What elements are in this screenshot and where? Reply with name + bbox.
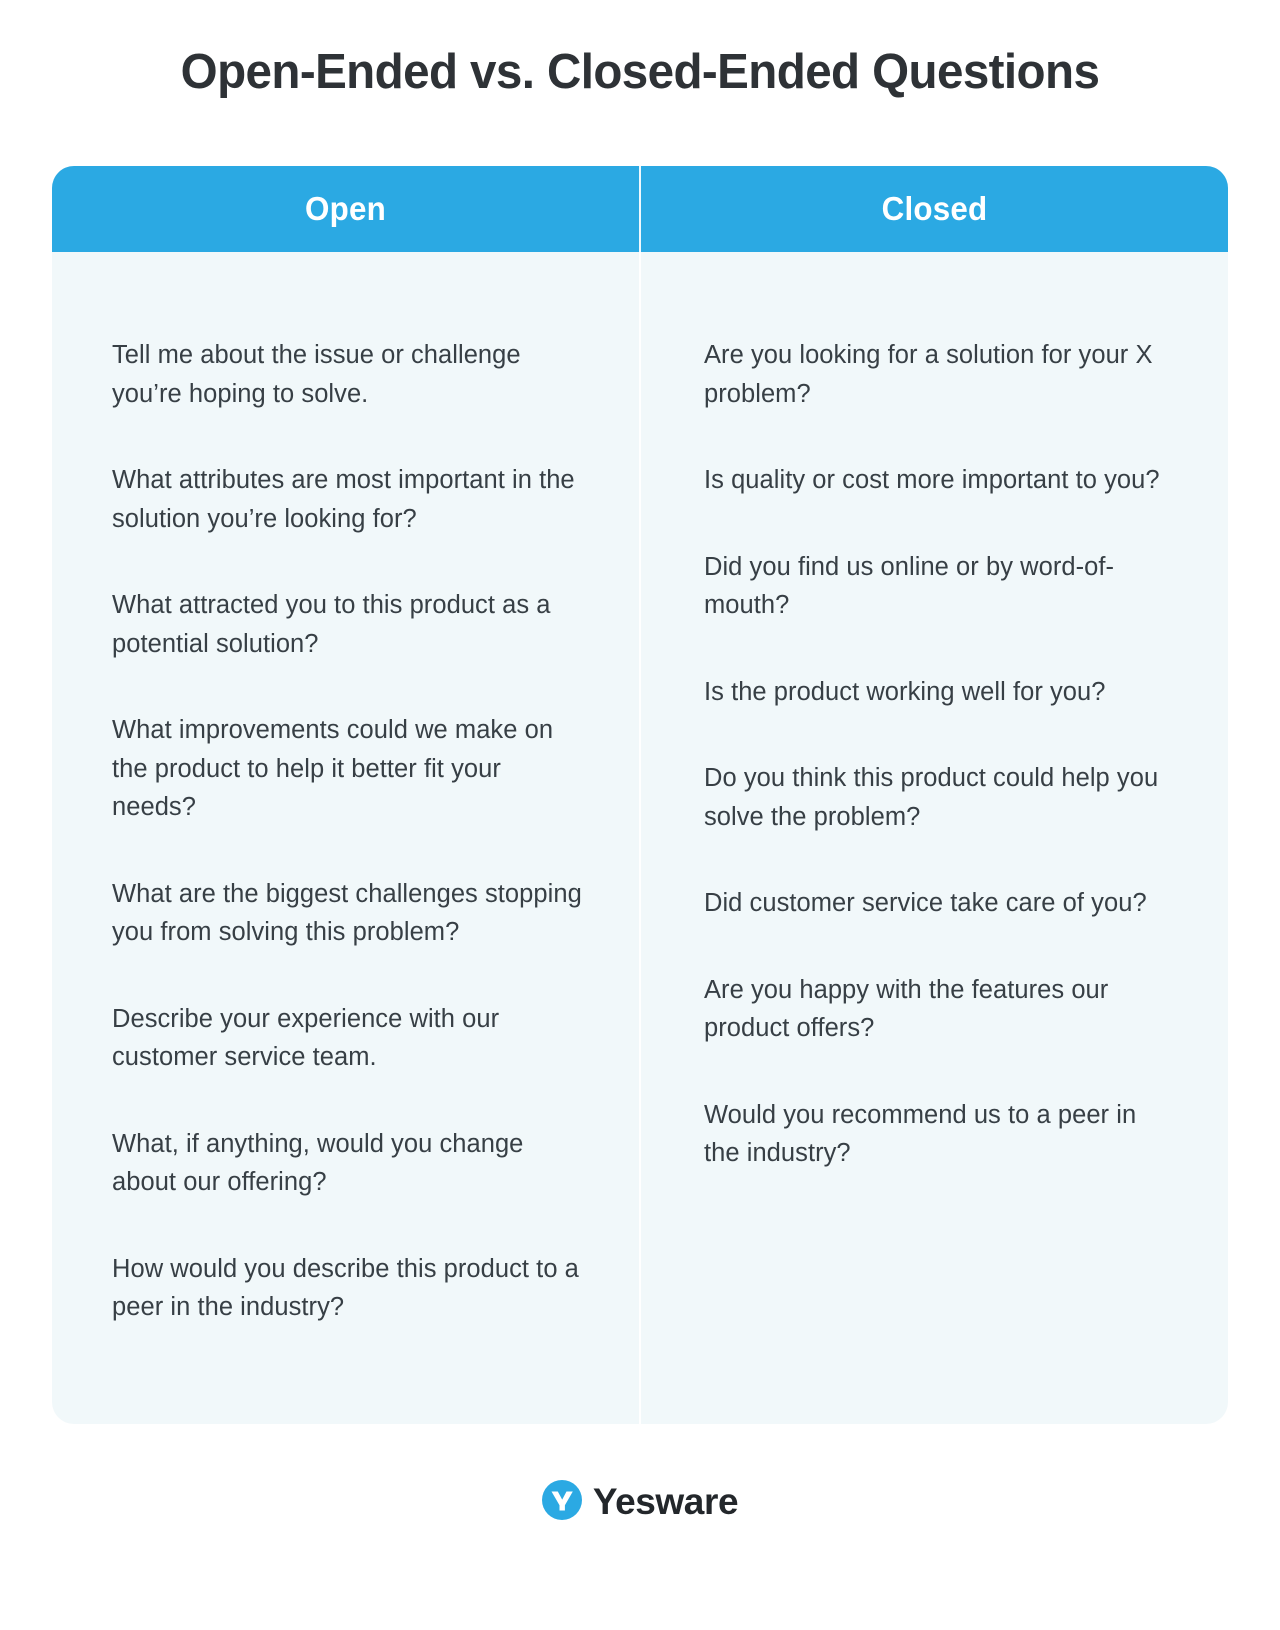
- list-item: Would you recommend us to a peer in the …: [704, 1096, 1174, 1173]
- list-item: Are you looking for a solution for your …: [704, 336, 1174, 413]
- list-item: How would you describe this product to a…: [112, 1250, 582, 1327]
- list-item: Do you think this product could help you…: [704, 759, 1174, 836]
- column-header-open: Open: [67, 166, 625, 252]
- list-item: Are you happy with the features our prod…: [704, 971, 1174, 1048]
- list-item: What attracted you to this product as a …: [112, 586, 582, 663]
- list-item: What are the biggest challenges stopping…: [112, 875, 582, 952]
- list-item: What improvements could we make on the p…: [112, 711, 582, 827]
- list-item: Is the product working well for you?: [704, 673, 1174, 712]
- table-header-row: Open Closed: [52, 166, 1228, 252]
- list-item: Describe your experience with our custom…: [112, 1000, 582, 1077]
- column-closed-questions: Are you looking for a solution for your …: [642, 252, 1228, 1424]
- brand-name: Yesware: [593, 1483, 738, 1520]
- list-item: Did you find us online or by word-of-mou…: [704, 548, 1174, 625]
- infographic-page: Open-Ended vs. Closed-Ended Questions Op…: [0, 0, 1280, 1630]
- list-item: What attributes are most important in th…: [112, 461, 582, 538]
- comparison-table: Open Closed Tell me about the issue or c…: [52, 166, 1228, 1424]
- header-column-divider: [639, 166, 641, 252]
- column-header-closed: Closed: [656, 166, 1214, 252]
- body-column-divider: [639, 252, 641, 1424]
- list-item: Tell me about the issue or challenge you…: [112, 336, 582, 413]
- column-open-questions: Tell me about the issue or challenge you…: [52, 252, 642, 1424]
- page-title: Open-Ended vs. Closed-Ended Questions: [19, 44, 1261, 100]
- table-body: Tell me about the issue or challenge you…: [52, 252, 1228, 1424]
- list-item: Did customer service take care of you?: [704, 884, 1174, 923]
- list-item: What, if anything, would you change abou…: [112, 1125, 582, 1202]
- list-item: Is quality or cost more important to you…: [704, 461, 1174, 500]
- footer-branding: Yesware: [0, 1480, 1280, 1520]
- yesware-y-icon: [542, 1480, 582, 1520]
